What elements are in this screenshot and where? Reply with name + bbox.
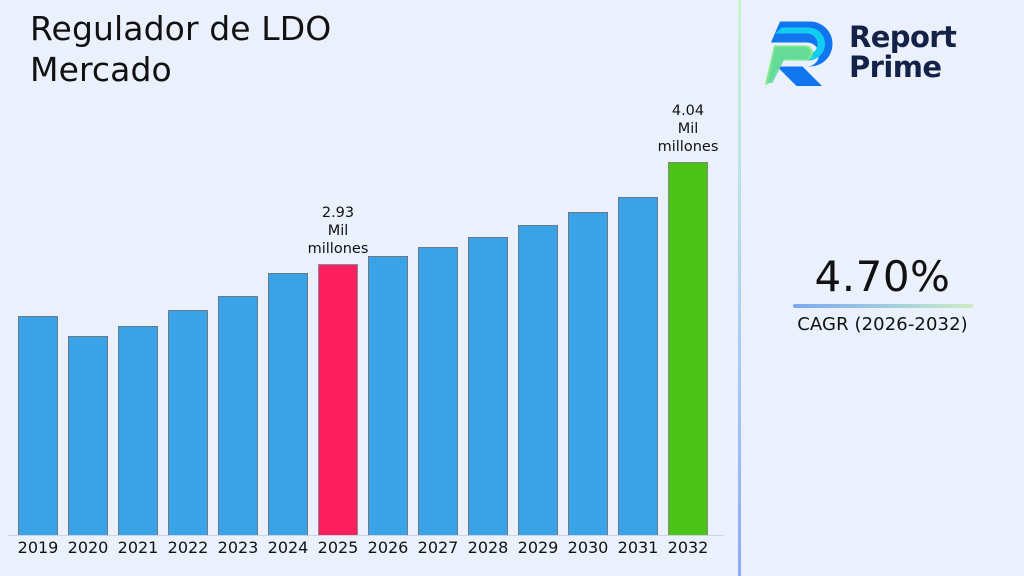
x-tick-2025: 2025 <box>314 538 362 557</box>
x-tick-2027: 2027 <box>414 538 462 557</box>
bar-rect-2030[interactable] <box>568 212 608 535</box>
x-tick-2024: 2024 <box>264 538 312 557</box>
bar-rect-2025[interactable] <box>318 264 358 535</box>
bar-rect-2023[interactable] <box>218 296 258 535</box>
x-tick-2022: 2022 <box>164 538 212 557</box>
x-tick-2028: 2028 <box>464 538 512 557</box>
bar-chart: 2.93 Mil millones4.04 Mil millones 20192… <box>0 0 739 576</box>
bar-rect-2019[interactable] <box>18 316 58 535</box>
x-tick-2023: 2023 <box>214 538 262 557</box>
brand-name: Report Prime <box>849 23 956 83</box>
bar-rect-2027[interactable] <box>418 247 458 535</box>
x-tick-2019: 2019 <box>14 538 62 557</box>
bar-rect-2022[interactable] <box>168 310 208 535</box>
cagr-block: 4.70% CAGR (2026-2032) <box>741 254 1024 335</box>
report-prime-logo: Report Prime <box>763 14 1007 92</box>
slide-root: Regulador de LDO Mercado 2.93 Mil millon… <box>0 0 1024 576</box>
bar-rect-2024[interactable] <box>268 273 308 535</box>
x-tick-2030: 2030 <box>564 538 612 557</box>
cagr-value: 4.70% <box>741 254 1024 299</box>
cagr-label: CAGR (2026-2032) <box>741 314 1024 335</box>
plot-area: 2.93 Mil millones4.04 Mil millones <box>0 110 739 536</box>
cagr-divider-rule <box>793 304 973 308</box>
x-tick-2032: 2032 <box>664 538 712 557</box>
bar-rect-2031[interactable] <box>618 197 658 535</box>
x-tick-2031: 2031 <box>614 538 662 557</box>
x-tick-2026: 2026 <box>364 538 412 557</box>
bar-rect-2021[interactable] <box>118 326 158 535</box>
x-tick-2021: 2021 <box>114 538 162 557</box>
x-tick-2020: 2020 <box>64 538 112 557</box>
bar-rect-2026[interactable] <box>368 256 408 535</box>
bar-rect-2020[interactable] <box>68 336 108 535</box>
x-tick-2029: 2029 <box>514 538 562 557</box>
x-axis-line <box>8 535 724 536</box>
x-axis-tick-labels: 2019202020212022202320242025202620272028… <box>0 538 739 568</box>
bar-value-label-2025: 2.93 Mil millones <box>283 204 393 258</box>
report-prime-logo-icon <box>763 17 839 89</box>
brand-panel: Report Prime 4.70% CAGR (2026-2032) <box>741 0 1024 576</box>
chart-panel: Regulador de LDO Mercado 2.93 Mil millon… <box>0 0 739 576</box>
bar-rect-2028[interactable] <box>468 237 508 535</box>
bar-value-label-2032: 4.04 Mil millones <box>633 102 743 156</box>
bar-rect-2029[interactable] <box>518 225 558 535</box>
bar-rect-2032[interactable] <box>668 162 708 535</box>
